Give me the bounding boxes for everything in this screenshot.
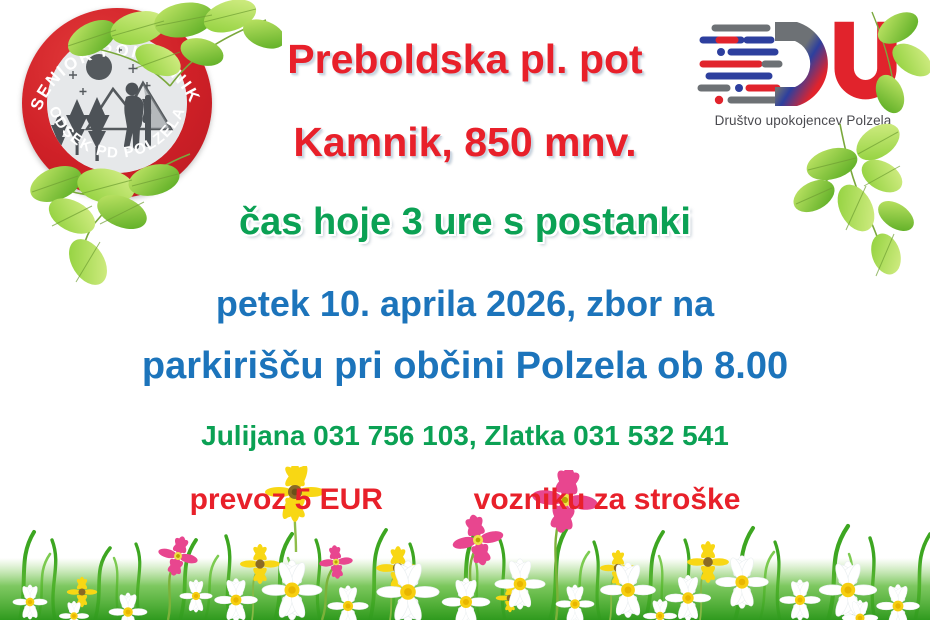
meeting-line: parkirišču pri občini Polzela ob 8.00: [0, 345, 930, 388]
poster-text-block: Preboldska pl. pot Kamnik, 850 mnv. čas …: [0, 0, 930, 540]
transport-note: vozniku za stroške: [474, 483, 741, 517]
poster-canvas: SENIOR POHODNIKI ODSEK PD POLZELA: [0, 0, 930, 620]
title-line-2: Kamnik, 850 mnv.: [0, 119, 930, 166]
date-line: petek 10. aprila 2026, zbor na: [0, 283, 930, 325]
title-line-1: Preboldska pl. pot: [0, 36, 930, 83]
transport-line: prevoz 5 EUR vozniku za stroške: [0, 482, 930, 517]
contacts-line: Julijana 031 756 103, Zlatka 031 532 541: [0, 420, 930, 452]
duration-line: čas hoje 3 ure s postanki: [0, 201, 930, 244]
flower-spacer: [391, 500, 465, 501]
transport-price: prevoz 5 EUR: [190, 483, 383, 517]
